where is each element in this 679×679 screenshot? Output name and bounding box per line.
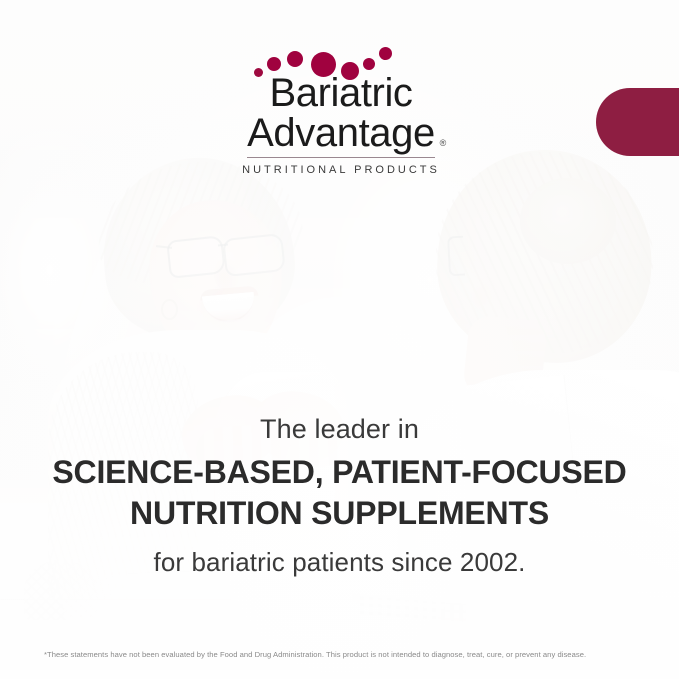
logo-wordmark-line1: Bariatric [238,74,444,113]
headline-pre-line: The leader in [0,414,679,446]
logo-dot-cluster [238,44,444,78]
headline-post-line: for bariatric patients since 2002. [0,547,679,578]
fda-disclaimer: *These statements have not been evaluate… [44,650,644,659]
clinician-glasses-temple [447,236,465,277]
logo-dot-6-icon [363,58,375,70]
marketing-banner: Bariatric Advantage ® NUTRITIONAL PRODUC… [0,0,679,679]
burgundy-accent-shape [596,88,679,156]
registered-trademark-symbol: ® [440,139,446,148]
logo-dot-1-icon [254,68,263,77]
headline-block: The leader in SCIENCE-BASED, PATIENT-FOC… [0,414,679,578]
logo-dot-3-icon [287,51,303,67]
logo-tagline: NUTRITIONAL PRODUCTS [238,164,444,176]
clinician-ear [470,282,492,312]
headline-main-line2: NUTRITION SUPPLEMENTS [0,493,679,535]
headline-main-line1: SCIENCE-BASED, PATIENT-FOCUSED [52,454,626,490]
headline-main: SCIENCE-BASED, PATIENT-FOCUSED NUTRITION… [0,452,679,535]
logo-divider-rule [247,157,435,158]
clinician-hair-bun [520,178,616,264]
patient-glasses-right-lens [222,233,286,277]
logo-dot-7-icon [379,47,392,60]
logo-wordmark-line2-wrap: Advantage ® [247,113,435,153]
logo-dot-4-icon [311,52,336,77]
brand-logo: Bariatric Advantage ® NUTRITIONAL PRODUC… [238,44,444,176]
logo-dot-2-icon [267,57,281,71]
logo-wordmark-line2: Advantage [247,111,435,155]
logo-dot-5-icon [341,62,359,80]
patient-glasses-left-lens [166,235,226,279]
patient-earring [161,299,178,320]
